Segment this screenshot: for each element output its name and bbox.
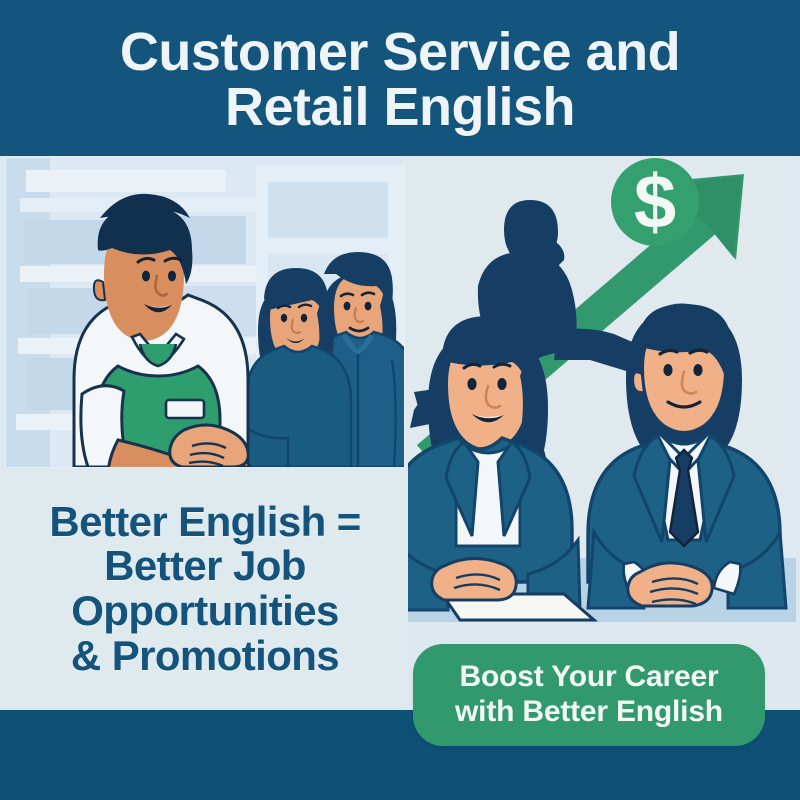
page-title-line-1: Customer Service and (120, 22, 680, 82)
left-illustration-panel (6, 158, 404, 467)
header-band: Customer Service and Retail English (0, 0, 800, 156)
dollar-sign-glyph: $ (634, 160, 676, 245)
headline-block: Better English = Better Job Opportunitie… (6, 470, 404, 708)
career-growth-illustration: $ (408, 158, 796, 622)
headline-text: Better English = Better Job Opportunitie… (49, 500, 360, 678)
cta-line-2: with Better English (455, 695, 723, 730)
dollar-coin-icon: $ (611, 158, 699, 246)
page-title-line-2: Retail English (120, 80, 680, 135)
headline-line-2: Better Job (49, 544, 360, 589)
right-illustration-panel: $ (408, 158, 796, 622)
retail-handshake-illustration (6, 158, 404, 467)
headline-line-3: Opportunities (49, 589, 360, 634)
headline-line-1: Better English = (49, 500, 360, 545)
headline-line-4: & Promotions (49, 634, 360, 679)
cta-label: Boost Your Career with Better English (455, 660, 723, 730)
cta-line-1: Boost Your Career (455, 660, 723, 695)
poster-root: Customer Service and Retail English (0, 0, 800, 800)
page-title: Customer Service and Retail English (120, 21, 680, 135)
boost-career-cta-button[interactable]: Boost Your Career with Better English (413, 644, 765, 746)
